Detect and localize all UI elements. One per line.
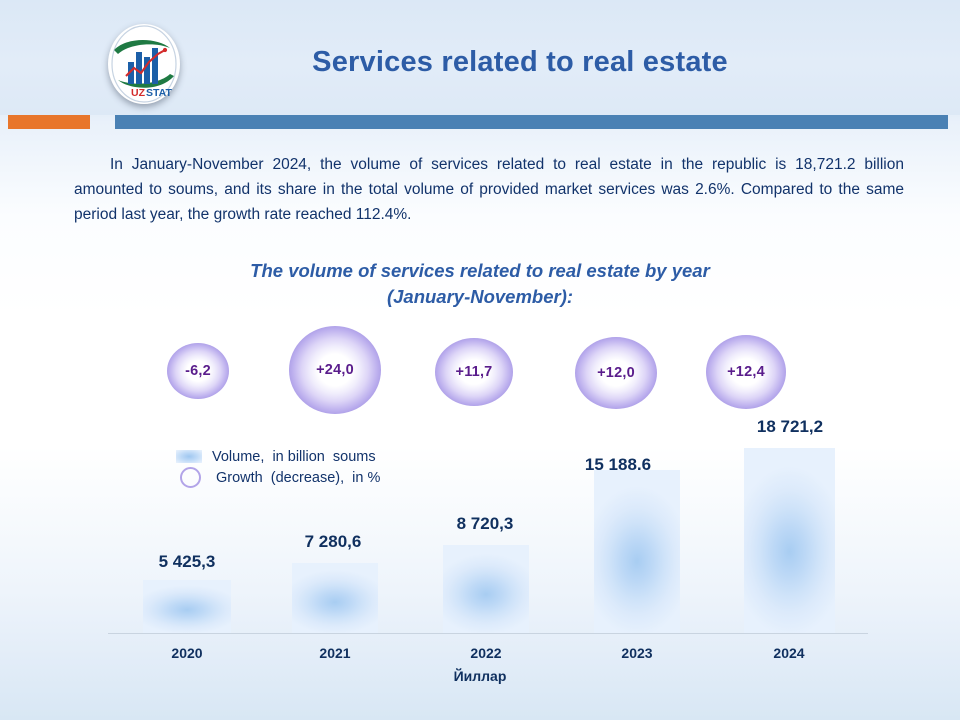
volume-swatch-icon (176, 450, 202, 463)
year-label-2020: 2020 (127, 645, 247, 661)
growth-bubble-2022: +11,7 (435, 338, 513, 406)
growth-bubble-label: +24,0 (316, 362, 354, 378)
growth-bubble-label: +11,7 (456, 364, 493, 380)
growth-bubble-2021: +24,0 (289, 326, 381, 414)
bar-chart: -6,2 +24,0 +11,7 +12,0 +12,4 Volume, in … (0, 0, 960, 720)
legend-row-growth: Growth (decrease), in % (176, 467, 380, 488)
growth-bubble-label: +12,4 (727, 364, 765, 380)
axis-baseline (108, 633, 868, 634)
growth-bubble-label: +12,0 (597, 365, 635, 381)
growth-circle-icon (180, 467, 201, 488)
year-label-2024: 2024 (729, 645, 849, 661)
bar-value-label-2022: 8 720,3 (425, 514, 545, 534)
bar-2020 (143, 580, 231, 633)
bar-value-label-2020: 5 425,3 (127, 552, 247, 572)
bar-2022 (443, 545, 529, 633)
year-label-2023: 2023 (577, 645, 697, 661)
year-label-2022: 2022 (426, 645, 546, 661)
legend-label-volume: Volume, in billion soums (212, 449, 376, 465)
growth-bubble-2024: +12,4 (706, 335, 786, 409)
growth-bubble-2023: +12,0 (575, 337, 657, 409)
bar-2024 (744, 448, 835, 633)
growth-bubble-2020: -6,2 (167, 343, 229, 399)
legend-row-volume: Volume, in billion soums (176, 446, 380, 467)
year-label-2021: 2021 (275, 645, 395, 661)
bar-value-label-2021: 7 280,6 (273, 532, 393, 552)
bar-2021 (292, 563, 378, 633)
infographic-page: UZ STAT Services related to real estate … (0, 0, 960, 720)
chart-legend: Volume, in billion soums Growth (decreas… (176, 446, 380, 488)
bar-2023 (594, 470, 680, 633)
bar-value-label-2024: 18 721,2 (725, 417, 855, 437)
legend-label-growth: Growth (decrease), in % (216, 470, 380, 486)
growth-bubble-label: -6,2 (185, 363, 211, 379)
axis-caption: Йиллар (380, 668, 580, 684)
